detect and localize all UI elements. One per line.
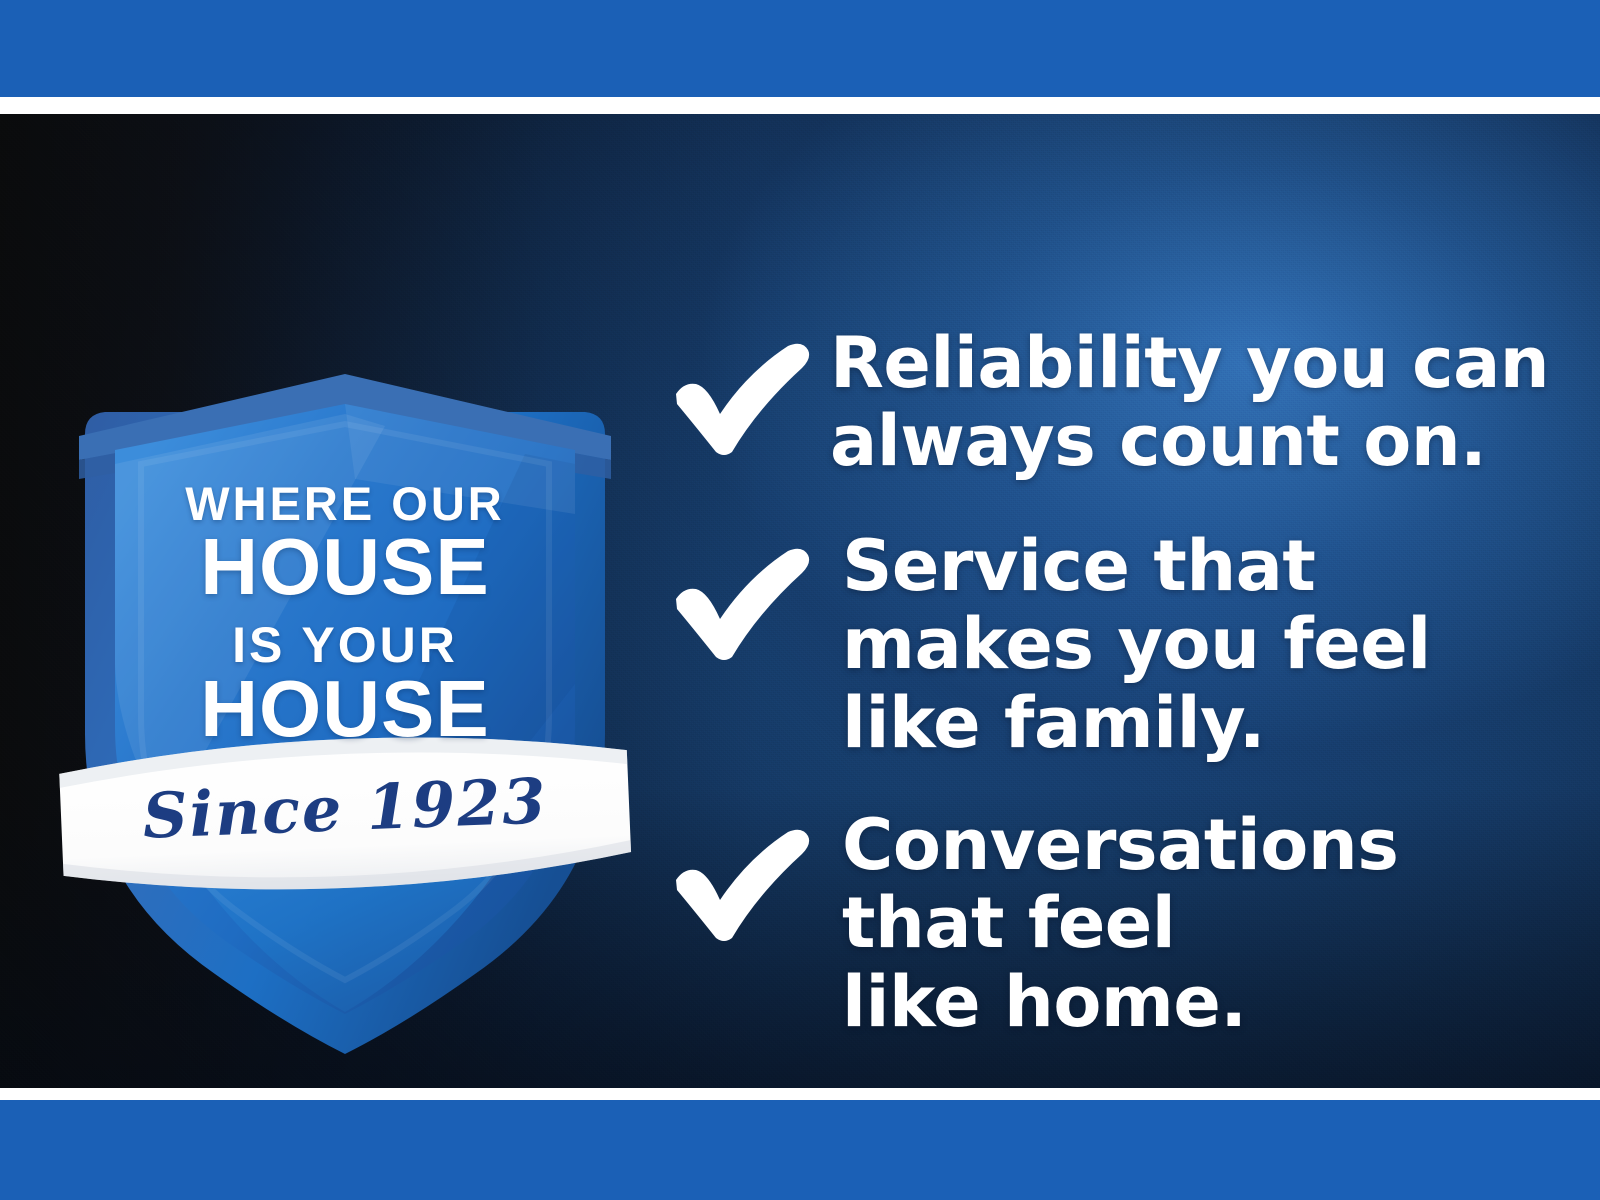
benefits-list: Reliability you can always count on. Ser… <box>668 324 1568 1041</box>
benefit-text: Service that makes you feel like family. <box>842 527 1568 762</box>
checkmark-icon <box>668 828 818 943</box>
benefit-text: Reliability you can always count on. <box>830 324 1568 481</box>
main-stage: WHERE OUR HOUSE IS YOUR HOUSE Since 1923… <box>0 114 1600 1088</box>
list-item: Reliability you can always count on. <box>668 324 1568 481</box>
bottom-brand-bar <box>0 1100 1600 1200</box>
list-item: Conversations that feel like home. <box>668 806 1568 1041</box>
checkmark-icon <box>668 342 818 457</box>
top-brand-bar <box>0 0 1600 97</box>
list-item: Service that makes you feel like family. <box>668 527 1568 762</box>
shield-badge: WHERE OUR HOUSE IS YOUR HOUSE Since 1923 <box>55 264 635 1084</box>
promo-banner: WHERE OUR HOUSE IS YOUR HOUSE Since 1923… <box>0 0 1600 1200</box>
checkmark-icon <box>668 547 818 662</box>
benefit-text: Conversations that feel like home. <box>842 806 1568 1041</box>
